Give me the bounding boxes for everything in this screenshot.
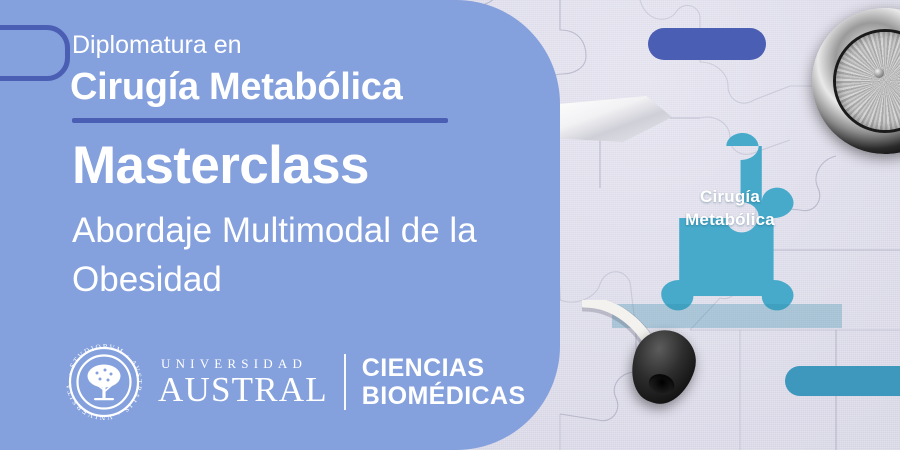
- subheadline: Abordaje Multimodal de la Obesidad: [72, 206, 512, 304]
- puzzle-label-line1: Cirugía: [640, 185, 820, 208]
- decorative-outline-pill: [0, 25, 70, 81]
- decorative-pill-teal: [785, 366, 900, 396]
- stethoscope-stem: [874, 68, 884, 78]
- faculty-wordmark: CIENCIAS BIOMÉDICAS: [362, 354, 526, 410]
- austral-wordmark: UNIVERSIDAD AUSTRAL: [158, 356, 328, 408]
- puzzle-piece-label: Cirugía Metabólica: [640, 185, 820, 231]
- kicker-text: Diplomatura en: [72, 30, 242, 60]
- puzzle-label-line2: Metabólica: [640, 208, 820, 231]
- tree-emblem: [88, 365, 121, 401]
- universidad-text: UNIVERSIDAD: [158, 356, 307, 371]
- title-underline-rule: [72, 118, 448, 123]
- course-title: Cirugía Metabólica: [70, 64, 402, 110]
- stethoscope-eartip-opening: [646, 371, 677, 398]
- university-logo-lockup: · STVDIORVM · AVSTRALIS · VNIVERSITAS UN…: [60, 338, 526, 426]
- headline: Masterclass: [72, 134, 369, 198]
- promotional-banner: Cirugía Metabólica Diplomatura en Cirugí…: [0, 0, 900, 450]
- biomedicas-text: BIOMÉDICAS: [362, 382, 526, 410]
- austral-text: AUSTRAL: [158, 371, 328, 408]
- wordmark: UNIVERSIDAD AUSTRAL CIENCIAS BIOMÉDICAS: [158, 354, 526, 410]
- stethoscope-diaphragm: [836, 32, 900, 130]
- ciencias-text: CIENCIAS: [362, 354, 526, 382]
- wordmark-divider: [344, 354, 346, 410]
- decorative-pill-blue: [648, 28, 766, 60]
- austral-seal-icon: · STVDIORVM · AVSTRALIS · VNIVERSITAS: [60, 338, 148, 426]
